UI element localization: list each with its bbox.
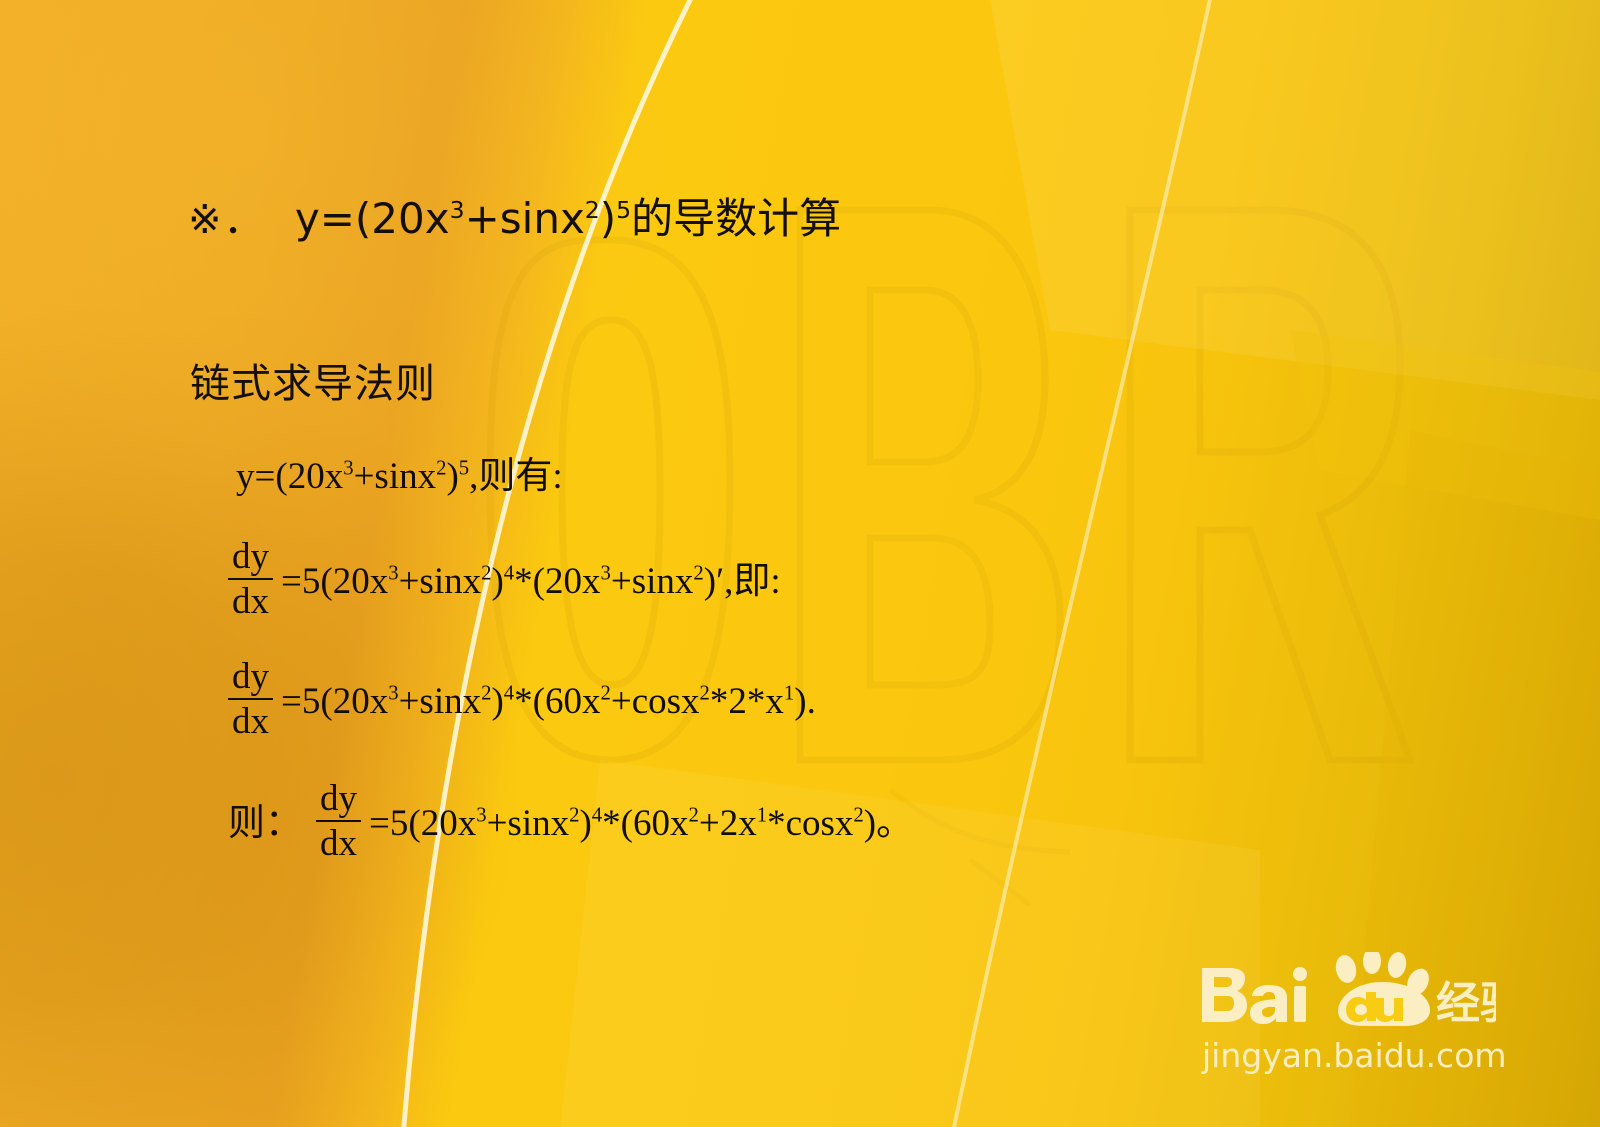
title-tail-text: 的导数计算 (631, 194, 841, 243)
eq4-b6: *cosx (767, 803, 853, 844)
eq4-s2: 2 (569, 804, 579, 826)
eq3-b1: =5(20x (281, 681, 388, 722)
eq2-b2: +sinx (399, 561, 482, 602)
eq4-s1: 3 (476, 804, 486, 826)
eq4-s6: 2 (853, 804, 863, 826)
title-formula-pre: y=(20x (295, 194, 450, 243)
equation-line-4: 则：dydx=5(20x3+sinx2)4*(60x2+2x1*cosx2)。 (228, 782, 913, 864)
eq2-s4: 3 (600, 562, 610, 584)
eq3-b3: ) (491, 681, 503, 722)
baidu-logo: 经验 (1196, 952, 1496, 1030)
page-title: ※． y=(20x3+sinx2)5的导数计算 (188, 198, 841, 240)
eq3-body: =5(20x3+sinx2)4*(60x2+cosx2*2*x1). (281, 683, 816, 720)
equation-line-1: y=(20x3+sinx2)5,则有: (236, 458, 563, 495)
eq1-sup-a: 3 (343, 458, 353, 480)
section-heading: 链式求导法则 (190, 364, 436, 404)
eq3-s6: 1 (784, 682, 794, 704)
eq4-lead-text: 则： (228, 805, 302, 842)
eq2-s2: 2 (481, 562, 491, 584)
eq4-denominator: dx (316, 824, 361, 863)
eq1-close: ) (446, 456, 458, 497)
title-superscript-2: 2 (585, 196, 600, 224)
eq3-s1: 3 (388, 682, 398, 704)
eq4-b2: +sinx (487, 803, 570, 844)
eq3-b5: +cosx (611, 681, 700, 722)
eq3-numerator: dy (228, 658, 273, 697)
eq2-fraction-dy-dx: dydx (228, 538, 273, 620)
eq3-b7: ). (794, 681, 816, 722)
baidu-jingyan-watermark: 经验 jingyan.baidu.com (1196, 952, 1496, 1072)
presentation-slide: ※． y=(20x3+sinx2)5的导数计算 链式求导法则 y=(20x3+s… (0, 0, 1600, 1127)
eq4-numerator: dy (316, 780, 361, 819)
eq2-numerator: dy (228, 538, 273, 577)
title-formula-mid: +sinx (465, 194, 585, 243)
eq2-b6: )′,即: (704, 561, 781, 602)
eq2-s3: 4 (504, 562, 514, 584)
eq3-s2: 2 (481, 682, 491, 704)
title-formula-close: ) (600, 194, 616, 243)
watermark-url: jingyan.baidu.com (1202, 1036, 1507, 1075)
eq3-s3: 4 (504, 682, 514, 704)
eq3-fraction-dy-dx: dydx (228, 658, 273, 740)
eq3-fraction-bar (228, 698, 273, 700)
eq1-base-pre: y=(20x (236, 456, 343, 497)
eq4-s4: 2 (688, 804, 698, 826)
eq4-s5: 1 (757, 804, 767, 826)
eq2-s1: 3 (388, 562, 398, 584)
eq4-b1: =5(20x (369, 803, 476, 844)
eq2-body: =5(20x3+sinx2)4*(20x3+sinx2)′,即: (281, 563, 781, 600)
eq2-b5: +sinx (611, 561, 694, 602)
eq4-body: =5(20x3+sinx2)4*(60x2+2x1*cosx2)。 (369, 805, 913, 842)
eq4-s3: 4 (592, 804, 602, 826)
slide-content: ※． y=(20x3+sinx2)5的导数计算 链式求导法则 y=(20x3+s… (0, 0, 1600, 1127)
eq4-b4: *(60x (602, 803, 688, 844)
eq4-fraction-dy-dx: dydx (316, 780, 361, 862)
eq4-b7: )。 (864, 803, 913, 844)
eq2-fraction-bar (228, 578, 273, 580)
title-superscript-5: 5 (616, 196, 631, 224)
eq2-s5: 2 (693, 562, 703, 584)
eq1-tail: ,则有: (469, 456, 563, 497)
equation-line-2: dydx=5(20x3+sinx2)4*(20x3+sinx2)′,即: (228, 540, 781, 622)
eq3-b4: *(60x (514, 681, 600, 722)
eq3-b6: *2*x (710, 681, 784, 722)
eq2-b1: =5(20x (281, 561, 388, 602)
eq4-b3: ) (579, 803, 591, 844)
eq1-sup-c: 5 (459, 458, 469, 480)
equation-line-3: dydx=5(20x3+sinx2)4*(60x2+cosx2*2*x1). (228, 660, 816, 742)
eq4-b5: +2x (699, 803, 757, 844)
eq3-denominator: dx (228, 702, 273, 741)
eq2-b3: ) (491, 561, 503, 602)
eq3-s4: 2 (600, 682, 610, 704)
eq1-mid: +sinx (354, 456, 437, 497)
eq3-s5: 2 (700, 682, 710, 704)
eq2-b4: *(20x (514, 561, 600, 602)
title-marker: ※． (188, 197, 266, 243)
title-superscript-3: 3 (450, 196, 465, 224)
eq4-fraction-bar (316, 820, 361, 822)
eq3-b2: +sinx (399, 681, 482, 722)
baidu-brand-cn: 经验 (1436, 978, 1496, 1029)
eq1-sup-b: 2 (436, 458, 446, 480)
eq2-denominator: dx (228, 582, 273, 621)
